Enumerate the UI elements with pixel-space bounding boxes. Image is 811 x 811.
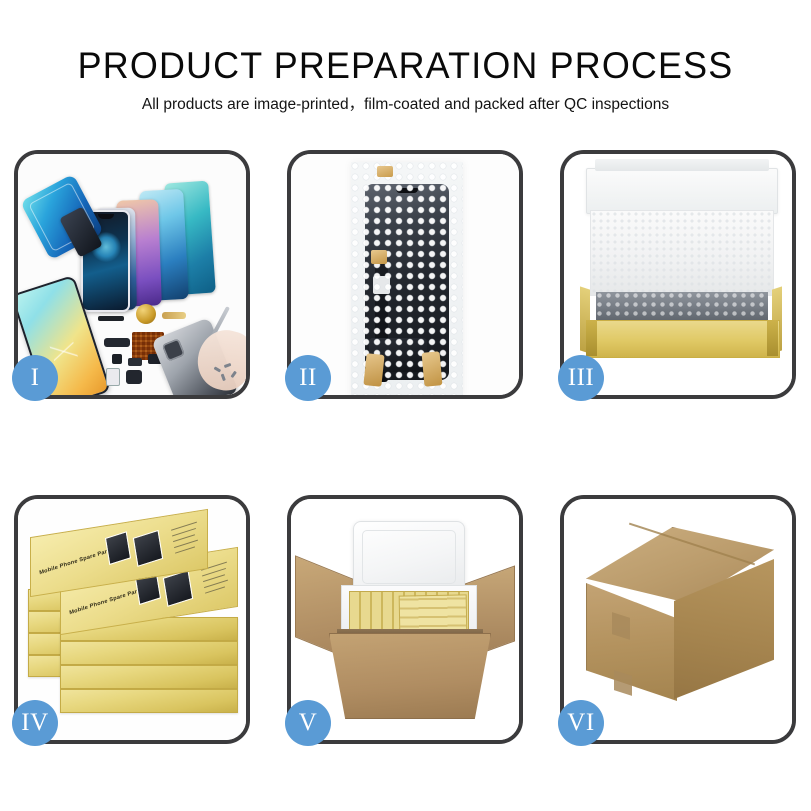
process-step-panel-4: Mobile Phone Spare Parts Mobile Phone Sp… bbox=[14, 495, 250, 744]
step-2-image bbox=[291, 154, 519, 395]
product-preparation-poster: PRODUCT PREPARATION PROCESS All products… bbox=[0, 0, 811, 811]
tape-bottom-right-icon bbox=[422, 351, 443, 386]
page-title: PRODUCT PREPARATION PROCESS bbox=[12, 44, 799, 88]
step-1-image bbox=[18, 154, 246, 395]
process-step-panel-5: V bbox=[287, 495, 523, 744]
process-step-panel-6: VI bbox=[560, 495, 796, 744]
bubble-contents-icon bbox=[596, 292, 768, 322]
step-badge-3: III bbox=[558, 355, 604, 401]
part-flex-cable-icon bbox=[104, 338, 130, 347]
process-step-panel-1: I bbox=[14, 150, 250, 399]
tape-mid-icon bbox=[371, 250, 387, 264]
part-camera-icon bbox=[126, 370, 142, 384]
gold-box-front-icon bbox=[586, 320, 780, 358]
box-tab-left-icon bbox=[586, 320, 597, 356]
step-6-image bbox=[564, 499, 792, 740]
gold-box-label: Mobile Phone Spare Parts bbox=[69, 587, 143, 616]
tape-bottom-left-icon bbox=[363, 353, 384, 387]
gold-box-icon bbox=[60, 641, 238, 665]
bubble-wrap-icon bbox=[351, 162, 463, 395]
box-art-screen-icon bbox=[105, 531, 131, 565]
box-art-screen-icon bbox=[163, 570, 193, 607]
part-chip-a-icon bbox=[112, 354, 122, 364]
screws-icon bbox=[214, 364, 240, 384]
process-step-panel-2: II bbox=[287, 150, 523, 399]
carton-front-icon bbox=[329, 633, 491, 719]
box-tab-right-icon bbox=[767, 320, 778, 356]
process-step-panel-3: III bbox=[560, 150, 796, 399]
step-4-image: Mobile Phone Spare Parts Mobile Phone Sp… bbox=[18, 499, 246, 740]
part-speaker-icon bbox=[136, 304, 156, 324]
gold-box-label: Mobile Phone Spare Parts bbox=[39, 547, 113, 576]
tape-top-icon bbox=[377, 166, 393, 177]
step-badge-5: V bbox=[285, 700, 331, 746]
step-badge-1: I bbox=[12, 355, 58, 401]
foam-sheet-icon bbox=[590, 210, 774, 296]
step-badge-4: IV bbox=[12, 700, 58, 746]
box-art-screen-icon bbox=[133, 530, 163, 567]
process-step-grid: I II bbox=[14, 150, 797, 744]
part-gold-connector-icon bbox=[162, 312, 186, 319]
step-3-image bbox=[564, 154, 792, 395]
step-badge-2: II bbox=[285, 355, 331, 401]
step-5-image bbox=[291, 499, 519, 740]
gold-box-stack-icon: Mobile Phone Spare Parts Mobile Phone Sp… bbox=[18, 499, 246, 740]
gold-box-icon bbox=[60, 665, 238, 689]
box-lid-icon bbox=[586, 168, 778, 214]
gold-box-icon bbox=[60, 689, 238, 713]
header: PRODUCT PREPARATION PROCESS All products… bbox=[0, 0, 811, 116]
part-chip-b-icon bbox=[128, 358, 142, 366]
foam-lid-icon bbox=[353, 521, 465, 593]
part-strip-icon bbox=[98, 316, 124, 321]
page-subtitle: All products are image-printed，film-coat… bbox=[0, 94, 811, 116]
part-battery-icon bbox=[106, 368, 120, 386]
step-badge-6: VI bbox=[558, 700, 604, 746]
